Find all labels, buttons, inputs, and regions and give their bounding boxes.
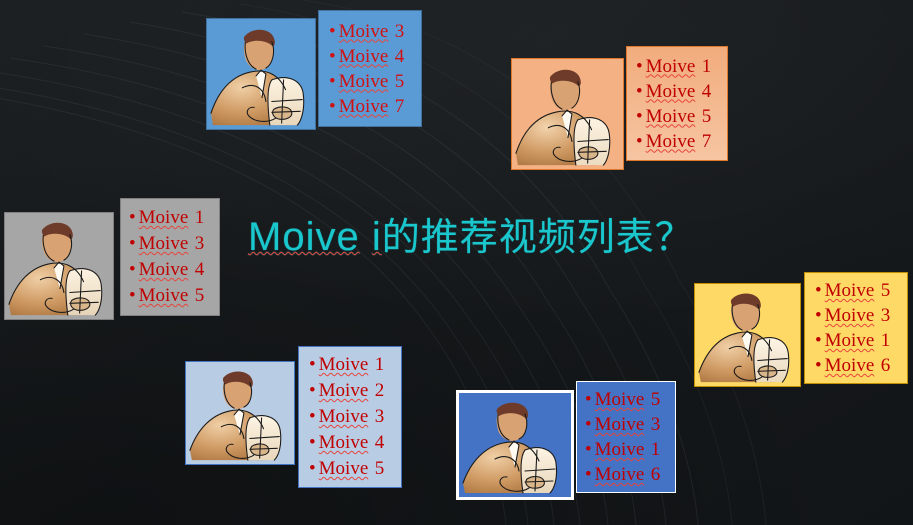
card-image-right-gold — [694, 283, 801, 387]
list-item-number: 3 — [195, 231, 205, 257]
list-item-label: Moive — [319, 430, 369, 456]
list-item[interactable]: • Moive4 — [636, 79, 727, 104]
list-item[interactable]: • Moive1 — [636, 54, 727, 79]
list-item-number: 4 — [195, 257, 205, 283]
list-item-label: Moive — [139, 283, 189, 309]
list-item-number: 1 — [195, 205, 205, 231]
list-item-label: Moive — [339, 94, 389, 119]
card-image-bottom-center-royal — [456, 390, 574, 500]
list-item-number: 1 — [651, 437, 661, 462]
list-item-number: 2 — [375, 378, 385, 404]
list-item-label: Moive — [646, 54, 696, 79]
list-item-label: Moive — [825, 353, 875, 378]
list-item[interactable]: • Moive5 — [129, 283, 219, 309]
list-item-number: 1 — [375, 352, 385, 378]
title-cjk-text: 的推荐视频列表？ — [382, 215, 694, 259]
list-item-number: 3 — [395, 19, 405, 44]
list-item-label: Moive — [646, 79, 696, 104]
list-item-label: Moive — [595, 462, 645, 487]
list-item-number: 4 — [702, 79, 712, 104]
card-list-top-left-blue[interactable]: • Moive3 • Moive4 • Moive5 • Moive7 — [318, 10, 422, 127]
title-latin-word: Moive — [248, 215, 360, 259]
page-title: Moive i的推荐视频列表？ — [248, 206, 694, 261]
list-item-number: 5 — [395, 69, 405, 94]
list-item-number: 5 — [702, 104, 712, 129]
list-item-label: Moive — [319, 352, 369, 378]
list-item-number: 5 — [881, 278, 891, 303]
list-item-label: Moive — [825, 328, 875, 353]
card-image-bottom-left-lightblue — [185, 361, 295, 465]
list-item-number: 6 — [651, 462, 661, 487]
card-image-top-right-salmon — [511, 58, 624, 170]
list-item-number: 6 — [881, 353, 891, 378]
list-item-label: Moive — [595, 387, 645, 412]
list-item[interactable]: • Moive5 — [309, 456, 401, 482]
list-item-label: Moive — [339, 19, 389, 44]
list-item[interactable]: • Moive4 — [309, 430, 401, 456]
list-item[interactable]: • Moive7 — [636, 129, 727, 154]
list-item[interactable]: • Moive2 — [309, 378, 401, 404]
list-item[interactable]: • Moive1 — [815, 328, 907, 353]
list-item-number: 3 — [375, 404, 385, 430]
list-item-label: Moive — [595, 412, 645, 437]
list-item[interactable]: • Moive5 — [329, 69, 421, 94]
list-item-number: 1 — [702, 54, 712, 79]
list-item-number: 5 — [195, 283, 205, 309]
list-item[interactable]: • Moive3 — [815, 303, 907, 328]
list-item[interactable]: • Moive6 — [585, 462, 675, 487]
list-item[interactable]: • Moive5 — [815, 278, 907, 303]
list-item-number: 3 — [881, 303, 891, 328]
list-item-number: 3 — [651, 412, 661, 437]
card-image-left-gray — [4, 212, 114, 320]
list-item[interactable]: • Moive1 — [585, 437, 675, 462]
list-item[interactable]: • Moive1 — [309, 352, 401, 378]
list-item-number: 4 — [375, 430, 385, 456]
list-item-label: Moive — [139, 205, 189, 231]
list-item[interactable]: • Moive4 — [329, 44, 421, 69]
list-item-label: Moive — [646, 104, 696, 129]
list-item-number: 5 — [375, 456, 385, 482]
list-item-label: Moive — [139, 231, 189, 257]
list-item-label: Moive — [319, 404, 369, 430]
card-list-left-gray[interactable]: • Moive1 • Moive3 • Moive4 • Moive5 — [120, 198, 220, 316]
list-item-label: Moive — [339, 44, 389, 69]
list-item[interactable]: • Moive5 — [636, 104, 727, 129]
list-item-label: Moive — [825, 303, 875, 328]
card-list-top-right-salmon[interactable]: • Moive1 • Moive4 • Moive5 • Moive7 — [626, 46, 728, 161]
list-item[interactable]: • Moive4 — [129, 257, 219, 283]
card-image-top-left-blue — [206, 18, 316, 130]
list-item-number: 5 — [651, 387, 661, 412]
list-item[interactable]: • Moive3 — [329, 19, 421, 44]
list-item-number: 7 — [702, 129, 712, 154]
card-list-bottom-left-lightblue[interactable]: • Moive1 • Moive2 • Moive3 • Moive4 • Mo… — [298, 346, 402, 488]
list-item[interactable]: • Moive3 — [585, 412, 675, 437]
list-item-label: Moive — [139, 257, 189, 283]
list-item-label: Moive — [595, 437, 645, 462]
list-item-label: Moive — [339, 69, 389, 94]
list-item-number: 4 — [395, 44, 405, 69]
list-item-label: Moive — [319, 378, 369, 404]
list-item[interactable]: • Moive5 — [585, 387, 675, 412]
title-index-letter: i — [372, 215, 382, 259]
title-space — [360, 215, 372, 259]
list-item[interactable]: • Moive7 — [329, 94, 421, 119]
list-item[interactable]: • Moive1 — [129, 205, 219, 231]
list-item-label: Moive — [319, 456, 369, 482]
list-item-label: Moive — [646, 129, 696, 154]
list-item-number: 1 — [881, 328, 891, 353]
list-item-number: 7 — [395, 94, 405, 119]
list-item[interactable]: • Moive6 — [815, 353, 907, 378]
list-item[interactable]: • Moive3 — [309, 404, 401, 430]
card-list-bottom-center-royal[interactable]: • Moive5 • Moive3 • Moive1 • Moive6 — [576, 381, 676, 493]
list-item[interactable]: • Moive3 — [129, 231, 219, 257]
list-item-label: Moive — [825, 278, 875, 303]
card-list-right-gold[interactable]: • Moive5 • Moive3 • Moive1 • Moive6 — [804, 272, 908, 384]
